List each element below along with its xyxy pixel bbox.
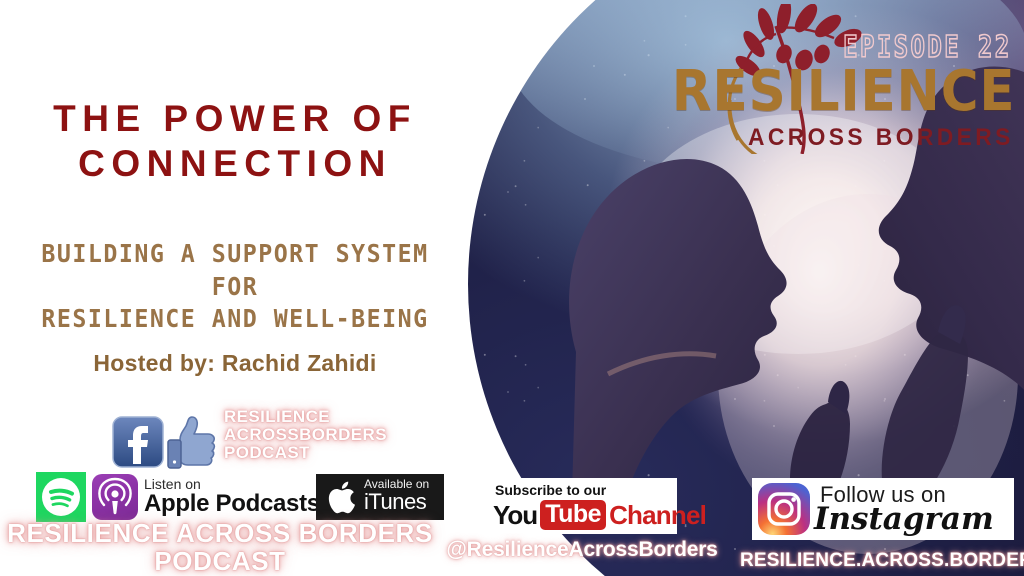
instagram-icon[interactable]: [758, 483, 810, 535]
youtube-channel-text: Channel: [609, 502, 706, 528]
podcast-name-line-2: PODCAST: [0, 548, 440, 576]
instagram-badge[interactable]: Follow us on Instagram: [752, 478, 1014, 540]
subtitle-line-2: RESILIENCE AND WELL-BEING: [16, 303, 453, 336]
spotify-badge[interactable]: [36, 472, 86, 522]
apple-podcasts-text: Listen on Apple Podcasts: [144, 475, 320, 516]
host-credit: Hosted by: Rachid Zahidi: [0, 350, 470, 377]
brand-tagline: ACROSS BORDERS: [748, 126, 1014, 150]
apple-podcasts-small-label: Listen on: [144, 475, 320, 491]
podcast-name: RESILIENCE ACROSS BORDERS PODCAST: [0, 520, 440, 575]
itunes-text: Available on iTunes: [364, 476, 429, 513]
facebook-line-1: RESILIENCE: [224, 408, 414, 426]
youtube-wordmark: You Tube Channel: [483, 500, 677, 530]
brand-logo: EPISODE 22 RESILIENCE ACROSS BORDERS: [718, 4, 1018, 154]
instagram-wordmark: Instagram: [814, 504, 994, 535]
facebook-line-3: PODCAST: [224, 444, 414, 462]
instagram-handle: RESILIENCE.ACROSS.BORDERS: [740, 550, 1024, 572]
page-title: THE POWER OF CONNECTION: [0, 96, 470, 186]
facebook-line-2: ACROSSBORDERS: [224, 426, 414, 444]
facebook-page-name: RESILIENCE ACROSSBORDERS PODCAST: [224, 408, 414, 462]
itunes-label: iTunes: [364, 490, 429, 513]
podcast-episode-poster: EPISODE 22 RESILIENCE ACROSS BORDERS THE…: [0, 0, 1024, 576]
brand-name: RESILIENCE: [672, 64, 1016, 120]
youtube-tube-text: Tube: [540, 500, 606, 530]
itunes-badge[interactable]: Available on iTunes: [316, 474, 444, 520]
subtitle-line-1: BUILDING A SUPPORT SYSTEM FOR: [16, 238, 453, 303]
episode-subtitle: BUILDING A SUPPORT SYSTEM FOR RESILIENCE…: [16, 238, 453, 336]
apple-podcasts-label: Apple Podcasts: [144, 491, 320, 516]
youtube-subscribe-label: Subscribe to our: [483, 478, 677, 497]
youtube-you-text: You: [493, 502, 537, 528]
apple-podcasts-badge[interactable]: Listen on Apple Podcasts: [92, 474, 334, 520]
thumbs-up-icon[interactable]: [164, 412, 224, 472]
facebook-block[interactable]: RESILIENCE ACROSSBORDERS PODCAST: [112, 408, 412, 470]
youtube-handle: @ResilienceAcrossBorders: [432, 538, 732, 562]
spotify-icon[interactable]: [36, 472, 86, 522]
itunes-small-label: Available on: [364, 476, 429, 490]
title-line-2: CONNECTION: [0, 141, 470, 186]
podcast-name-line-1: RESILIENCE ACROSS BORDERS: [0, 520, 440, 548]
youtube-badge[interactable]: Subscribe to our You Tube Channel: [483, 478, 677, 534]
apple-logo-icon: [324, 478, 362, 516]
apple-podcasts-icon[interactable]: [92, 474, 138, 520]
facebook-icon[interactable]: [112, 416, 164, 468]
title-line-1: THE POWER OF: [0, 96, 470, 141]
